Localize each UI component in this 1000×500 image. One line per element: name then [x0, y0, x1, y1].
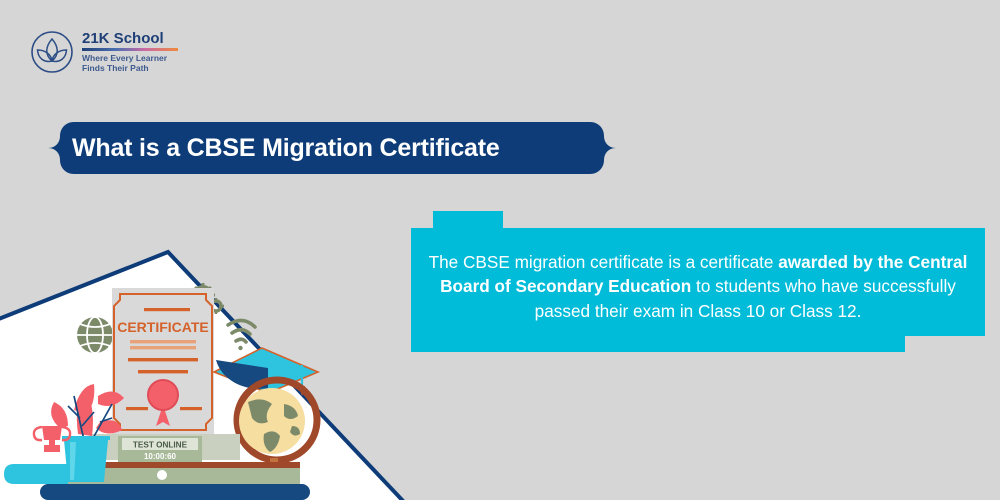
callout-segment-1: The CBSE migration certificate is a cert… [429, 252, 779, 272]
brand-logo[interactable]: 21K School Where Every Learner Finds The… [30, 30, 178, 74]
logo-gradient-rule [82, 48, 178, 51]
certificate-heading: CERTIFICATE [117, 319, 209, 335]
page-title: What is a CBSE Migration Certificate [72, 118, 592, 178]
callout-box: The CBSE migration certificate is a cert… [411, 211, 985, 352]
small-globe-icon [77, 317, 113, 353]
screen-timer: 10:00:60 [144, 452, 177, 461]
certificate: CERTIFICATE [112, 288, 214, 434]
callout-text: The CBSE migration certificate is a cert… [411, 211, 985, 352]
logo-title: 21K School [82, 31, 178, 47]
lotus-circle-logo-icon [30, 30, 74, 74]
online-exam-illustration: CERTIFICATE TEST ONLINE 10:00:60 [0, 190, 410, 500]
logo-tagline: Where Every Learner Finds Their Path [82, 53, 178, 74]
logo-text-block: 21K School Where Every Learner Finds The… [82, 31, 178, 73]
screen-label: TEST ONLINE [133, 441, 188, 450]
